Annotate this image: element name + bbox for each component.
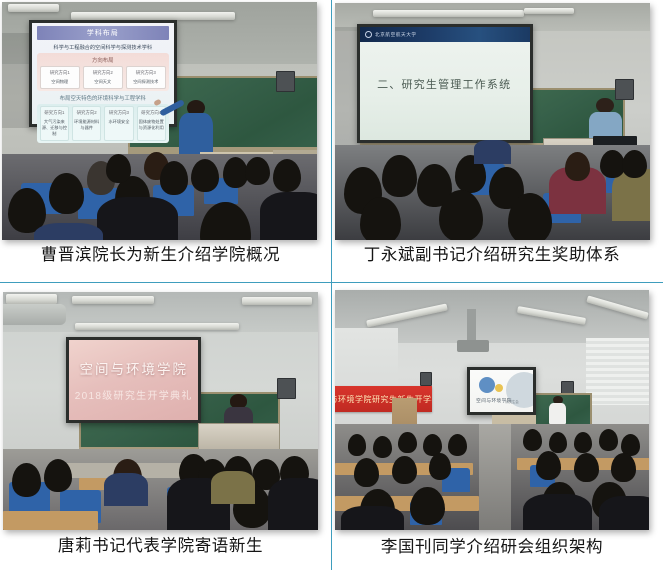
- card-label: 研究方向3: [106, 110, 131, 116]
- slide-header-bar: 北京航空航天大学: [360, 27, 530, 42]
- ceiling-duct: [3, 304, 66, 325]
- audience-head: [223, 157, 248, 188]
- slide-title: 学科布局: [37, 26, 169, 40]
- audience-head: [536, 451, 561, 480]
- desk: [3, 511, 98, 530]
- projector-mount-icon: [467, 309, 476, 343]
- audience-head: [12, 463, 40, 496]
- audience-head: [600, 150, 625, 178]
- ceiling-light-1: [6, 294, 56, 304]
- audience-head: [273, 159, 301, 192]
- card-value: 固体废物处置与资源化利用: [139, 119, 164, 131]
- slide-ceremony-title: 空间与环境学院 2018级研究生开学典礼: [69, 340, 198, 420]
- ceiling-light-2: [524, 8, 574, 14]
- audience-head: [191, 159, 219, 192]
- card-value: 大气污染来源、迁移与控制: [42, 119, 67, 137]
- audience-head: [574, 453, 599, 482]
- audience-head: [392, 456, 417, 485]
- audience-head: [410, 487, 445, 525]
- photo-collage-sheet: 学科布局 科学与工程融合的空间科学与探测技术学科 方向布局 研究方向1 空间物理: [0, 0, 663, 570]
- slide-circle-yellow: [495, 384, 503, 392]
- banner-text: 空间与环境学院研究生新生开学典礼: [335, 394, 432, 405]
- audience-head: [106, 154, 131, 183]
- audience-head: [599, 429, 618, 451]
- panel-bottom-left: 空间与环境学院 2018级研究生开学典礼: [0, 283, 331, 570]
- caption-bottom-left: 唐莉书记代表学院寄语新生: [0, 530, 331, 570]
- card-label: 研究方向2: [74, 110, 99, 116]
- slide-card: 研究方向3 空间探测技术: [126, 66, 166, 89]
- caption-bottom-right: 李国刊同学介绍研会组织架构: [331, 530, 663, 570]
- panel-top-left: 学科布局 科学与工程融合的空间科学与探测技术学科 方向布局 研究方向1 空间物理: [0, 0, 331, 283]
- ceiling-light-2: [8, 4, 58, 11]
- card-label: 研究方向1: [42, 70, 78, 76]
- slide-subtitle: 科学与工程融合的空间科学与探测技术学科: [37, 44, 169, 51]
- slide-card: 研究方向3 水环境安全: [104, 106, 133, 141]
- card-value: 空间天文: [85, 79, 121, 85]
- aisle: [479, 424, 510, 530]
- card-value: 水环境安全: [106, 119, 131, 125]
- slide-discipline-layout: 学科布局 科学与工程融合的空间科学与探测技术学科 方向布局 研究方向1 空间物理: [32, 23, 174, 124]
- slide-card: 研究方向1 空间物理: [40, 66, 80, 89]
- slide-heading: 二、研究生管理工作系统: [377, 76, 511, 92]
- wall-shadow: [2, 33, 30, 128]
- audience-torso: [474, 140, 512, 164]
- divider-vertical: [331, 0, 332, 570]
- caption-top-right: 丁永斌副书记介绍研究生奖助体系: [331, 240, 663, 283]
- projection-screen: 空间与环境学院 2018级研究生开学典礼: [66, 337, 201, 423]
- wall-speaker-icon: [277, 378, 296, 399]
- audience-head: [49, 173, 84, 213]
- ceiling-light-1: [373, 10, 524, 17]
- photo-bottom-left: 空间与环境学院 2018级研究生开学典礼: [3, 292, 318, 530]
- audience-torso: [34, 223, 103, 240]
- ceiling-light-3: [242, 297, 311, 305]
- slide-title: 空间与环境学院: [79, 358, 188, 378]
- audience-torso: [268, 478, 318, 530]
- audience-torso: [341, 506, 404, 530]
- card-label: 研究方向2: [85, 70, 121, 76]
- projector: [457, 340, 488, 352]
- slide-student-union: 空间与环境学院 研究生会: [470, 370, 533, 412]
- photo-bottom-right: 空间与环境学院研究生新生开学典礼 空间与环境学院 研究生会: [335, 290, 649, 530]
- card-value: 环境能源材料与器件: [74, 119, 99, 131]
- projection-screen: 空间与环境学院 研究生会: [467, 367, 536, 415]
- audience-head: [622, 150, 647, 178]
- audience-head: [448, 434, 467, 456]
- slide-card: 研究方向2 环境能源材料与器件: [72, 106, 101, 141]
- ceiling-light-1: [71, 12, 235, 20]
- card-label: 研究方向3: [128, 70, 164, 76]
- audience-head: [348, 434, 367, 456]
- audience-torso: [260, 192, 317, 240]
- audience-head: [549, 432, 568, 454]
- presenter-figure: [549, 396, 568, 425]
- audience-head: [245, 157, 270, 186]
- divider-horizontal: [0, 282, 663, 283]
- slide-band-directions: 方向布局 研究方向1 空间物理 研究方向2 空间天文: [37, 53, 169, 91]
- slide-band-environment: 研究方向1 大气污染来源、迁移与控制 研究方向2 环境能源材料与器件 研究方向3: [37, 104, 169, 143]
- audience-head: [439, 190, 483, 240]
- audience-head: [398, 432, 417, 454]
- ceiling-light-2: [72, 296, 154, 304]
- audience-torso: [104, 473, 148, 506]
- slide-card: 研究方向1 大气污染来源、迁移与控制: [40, 106, 69, 141]
- slide-subtitle: 2018级研究生开学典礼: [75, 387, 193, 402]
- university-name: 北京航空航天大学: [375, 32, 417, 38]
- audience-head: [523, 429, 542, 451]
- slide-circle-blue: [479, 377, 495, 393]
- audience-torso: [599, 496, 649, 530]
- audience-head: [429, 453, 451, 479]
- panel-top-right: 北京航空航天大学 二、研究生管理工作系统: [331, 0, 663, 283]
- slide-subtitle: 研究生会: [505, 399, 519, 404]
- card-value: 空间探测技术: [128, 79, 164, 85]
- audience-head: [160, 161, 188, 194]
- red-banner: 空间与环境学院研究生新生开学典礼: [335, 386, 432, 412]
- panel-bottom-right: 空间与环境学院研究生新生开学典礼 空间与环境学院 研究生会: [331, 283, 663, 570]
- audience-head: [382, 155, 417, 198]
- photo-top-right: 北京航空航天大学 二、研究生管理工作系统: [335, 3, 650, 240]
- audience-torso: [523, 494, 592, 530]
- band-header: 方向布局: [40, 55, 166, 66]
- audience-head: [354, 458, 379, 487]
- card-value: 空间物理: [42, 79, 78, 85]
- band2-header: 布局空天特色的环境科学与工程学科: [37, 93, 169, 104]
- audience-head: [373, 436, 392, 458]
- slide-graduate-management: 北京航空航天大学 二、研究生管理工作系统: [360, 27, 530, 140]
- window-blinds: [586, 338, 649, 405]
- projection-screen: 北京航空航天大学 二、研究生管理工作系统: [357, 24, 533, 143]
- photo-top-left: 学科布局 科学与工程融合的空间科学与探测技术学科 方向布局 研究方向1 空间物理: [2, 2, 317, 240]
- audience-torso: [97, 197, 179, 240]
- wall-speaker-icon: [276, 71, 295, 92]
- projection-screen: 学科布局 科学与工程融合的空间科学与探测技术学科 方向布局 研究方向1 空间物理: [29, 20, 177, 127]
- card-label: 研究方向1: [42, 110, 67, 116]
- university-logo-icon: [365, 31, 372, 38]
- wall-speaker-icon: [420, 372, 433, 386]
- audience-head: [611, 453, 636, 482]
- slide-card: 研究方向2 空间天文: [83, 66, 123, 89]
- ceiling-light-4: [75, 323, 239, 330]
- audience-torso: [211, 471, 255, 504]
- caption-top-left: 曹晋滨院长为新生介绍学院概况: [0, 240, 331, 283]
- audience-head: [565, 152, 590, 180]
